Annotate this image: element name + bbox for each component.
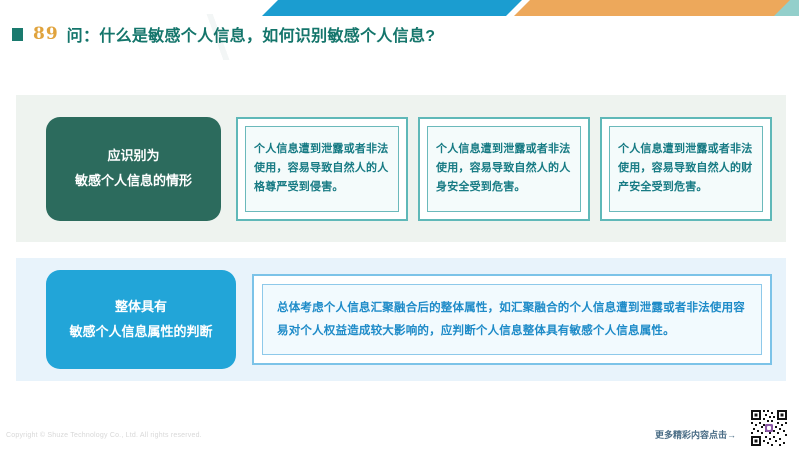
card-inner-frame: 个人信息遭到泄露或者非法使用，容易导致自然人的财产安全受到危害。 xyxy=(609,126,763,212)
section-2-card: 总体考虑个人信息汇聚融合后的整体属性，如汇聚融合的个人信息遭到泄露或者非法使用容… xyxy=(252,274,772,365)
title-question-text: 问：什么是敏感个人信息，如何识别敏感个人信息? xyxy=(67,22,436,46)
section-2-label-line1: 整体具有 xyxy=(115,295,167,320)
section-2-label: 整体具有 敏感个人信息属性的判断 xyxy=(46,270,236,369)
card-item: 个人信息遭到泄露或者非法使用，容易导致自然人的财产安全受到危害。 xyxy=(600,117,772,221)
title-bullet-icon xyxy=(12,28,23,41)
section-1-label-line2: 敏感个人信息的情形 xyxy=(75,169,192,194)
section-1-card-list: 个人信息遭到泄露或者非法使用，容易导致自然人的人格尊严受到侵害。 个人信息遭到泄… xyxy=(236,117,772,221)
page-title: 89 问：什么是敏感个人信息，如何识别敏感个人信息? xyxy=(0,20,799,48)
title-question-number: 89 xyxy=(33,24,59,44)
qr-code-icon[interactable] xyxy=(749,408,789,448)
card-inner-frame: 个人信息遭到泄露或者非法使用，容易导致自然人的人格尊严受到侵害。 xyxy=(245,126,399,212)
card-text: 个人信息遭到泄露或者非法使用，容易导致自然人的人格尊严受到侵害。 xyxy=(254,140,390,198)
card-text: 个人信息遭到泄露或者非法使用，容易导致自然人的财产安全受到危害。 xyxy=(618,140,754,198)
section-identify-cases: 应识别为 敏感个人信息的情形 个人信息遭到泄露或者非法使用，容易导致自然人的人格… xyxy=(16,95,786,242)
section-2-label-line2: 敏感个人信息属性的判断 xyxy=(69,320,212,345)
top-banner xyxy=(0,0,799,16)
card-inner-frame: 个人信息遭到泄露或者非法使用，容易导致自然人的人身安全受到危害。 xyxy=(427,126,581,212)
card-item: 个人信息遭到泄露或者非法使用，容易导致自然人的人身安全受到危害。 xyxy=(418,117,590,221)
banner-blue-shape xyxy=(262,0,522,16)
cta-text: 更多精彩内容点击→ xyxy=(655,428,736,441)
card-inner-frame: 总体考虑个人信息汇聚融合后的整体属性，如汇聚融合的个人信息遭到泄露或者非法使用容… xyxy=(262,284,762,355)
copyright-text: Copyright © Shuze Technology Co., Ltd. A… xyxy=(6,432,202,439)
card-text: 总体考虑个人信息汇聚融合后的整体属性，如汇聚融合的个人信息遭到泄露或者非法使用容… xyxy=(277,297,747,343)
card-text: 个人信息遭到泄露或者非法使用，容易导致自然人的人身安全受到危害。 xyxy=(436,140,572,198)
banner-orange-shape xyxy=(514,0,790,16)
section-1-label: 应识别为 敏感个人信息的情形 xyxy=(46,117,221,221)
section-overall-attribute: 整体具有 敏感个人信息属性的判断 总体考虑个人信息汇聚融合后的整体属性，如汇聚融… xyxy=(16,258,786,381)
card-item: 个人信息遭到泄露或者非法使用，容易导致自然人的人格尊严受到侵害。 xyxy=(236,117,408,221)
slide-canvas: 89 问：什么是敏感个人信息，如何识别敏感个人信息? 应识别为 敏感个人信息的情… xyxy=(0,0,799,450)
section-1-label-line1: 应识别为 xyxy=(107,144,159,169)
